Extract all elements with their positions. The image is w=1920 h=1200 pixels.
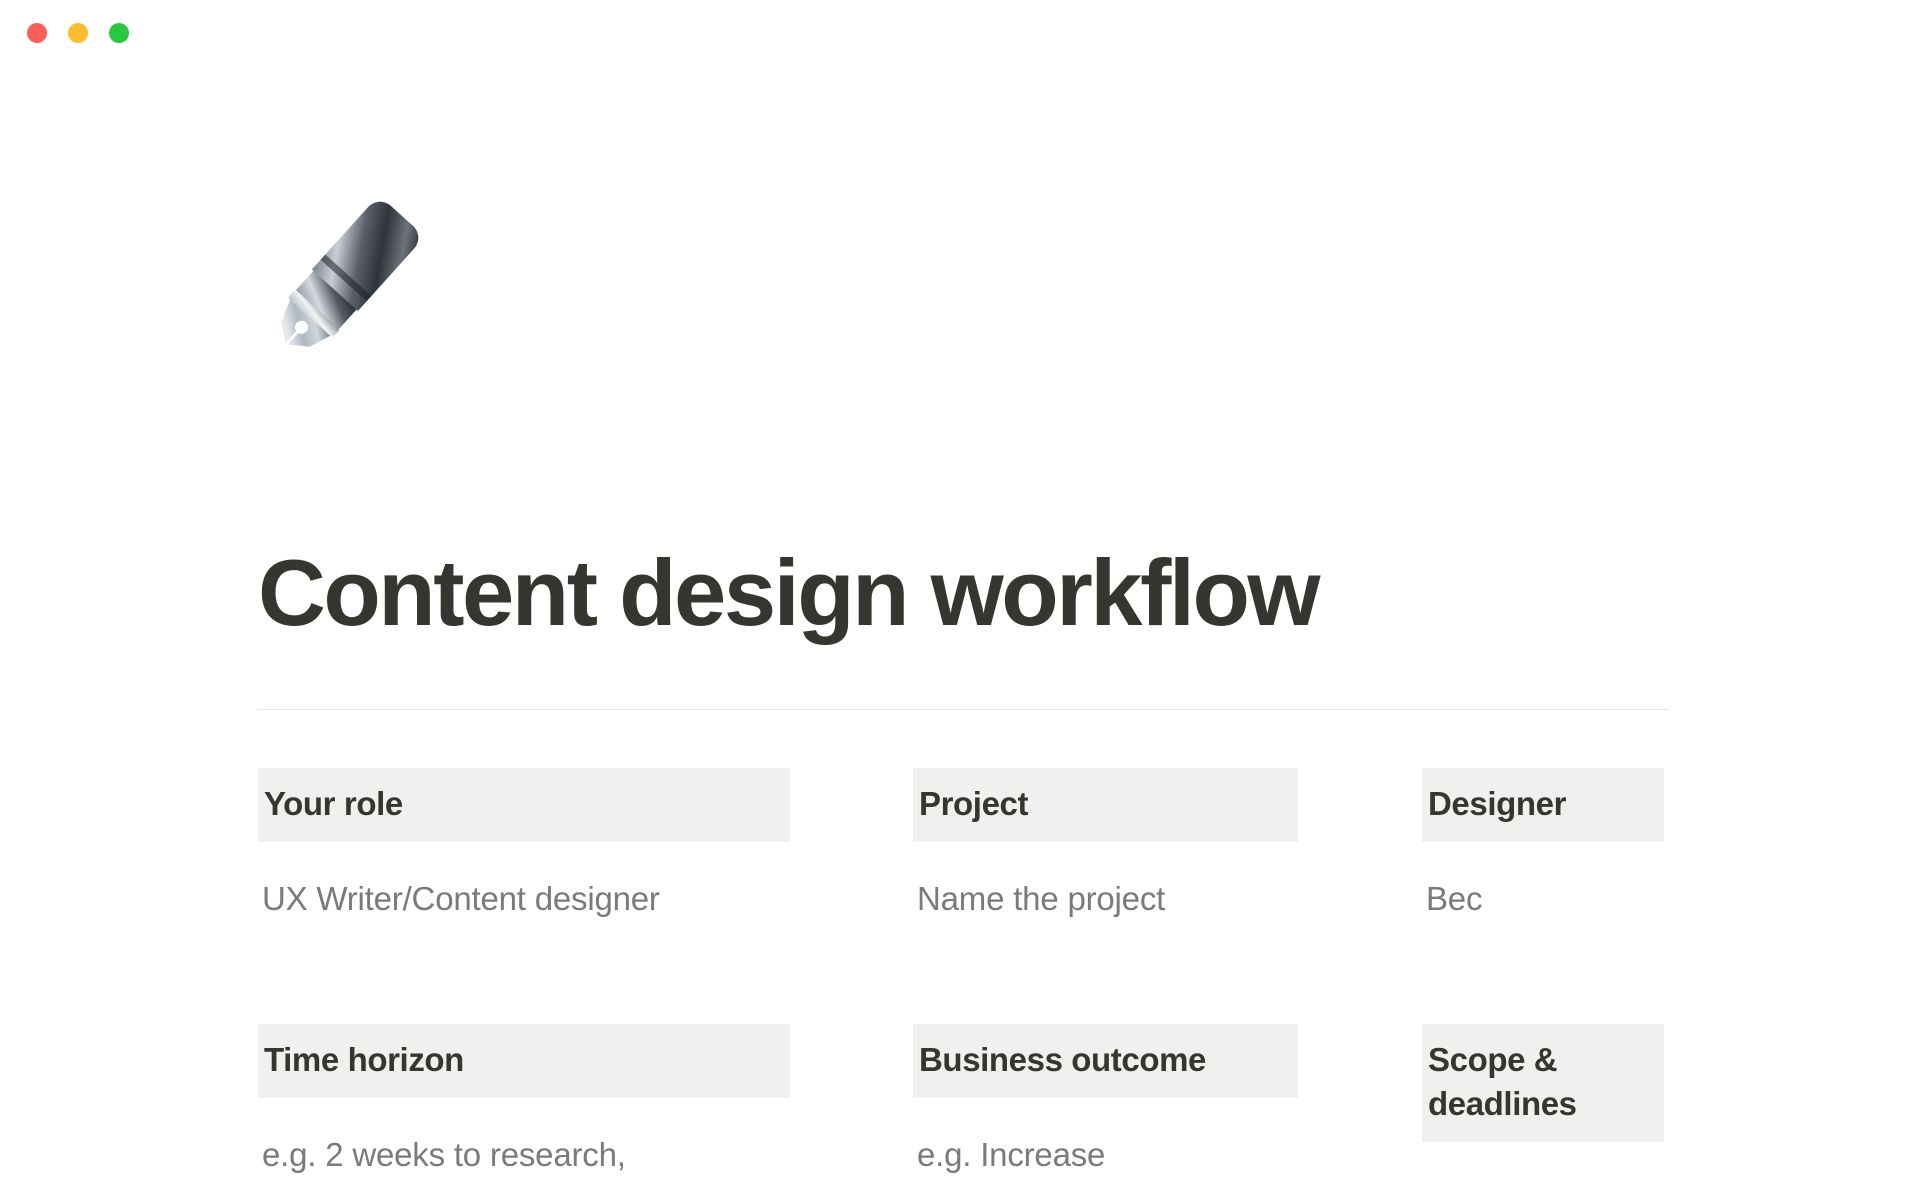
property-value[interactable]: Bec: [1422, 878, 1664, 921]
fountain-pen-icon[interactable]: [258, 192, 433, 367]
property-label: Scope & deadlines: [1422, 1024, 1664, 1142]
app-window: Content design workflow Your role UX Wri…: [0, 0, 1920, 1200]
property-value[interactable]: UX Writer/Content designer: [258, 878, 790, 921]
property-label: Your role: [258, 768, 790, 842]
page-title[interactable]: Content design workflow: [258, 540, 1318, 645]
property-cell-designer[interactable]: Designer Bec: [1422, 768, 1664, 921]
property-label: Time horizon: [258, 1024, 790, 1098]
property-cell-business-outcome[interactable]: Business outcome e.g. Increase: [913, 1024, 1298, 1177]
property-label: Project: [913, 768, 1298, 842]
property-cell-scope-deadlines[interactable]: Scope & deadlines: [1422, 1024, 1664, 1178]
traffic-light-group: [27, 23, 129, 43]
property-row: Time horizon e.g. 2 weeks to research, B…: [258, 1024, 1668, 1200]
property-value[interactable]: e.g. Increase: [913, 1134, 1298, 1177]
header-divider: [258, 709, 1668, 710]
property-grid: Your role UX Writer/Content designer Pro…: [258, 768, 1668, 1200]
minimize-window-button[interactable]: [68, 23, 88, 43]
property-label: Designer: [1422, 768, 1664, 842]
property-value[interactable]: Name the project: [913, 878, 1298, 921]
property-row: Your role UX Writer/Content designer Pro…: [258, 768, 1668, 1024]
maximize-window-button[interactable]: [109, 23, 129, 43]
close-window-button[interactable]: [27, 23, 47, 43]
window-titlebar: [0, 0, 1920, 72]
property-cell-your-role[interactable]: Your role UX Writer/Content designer: [258, 768, 790, 921]
property-label: Business outcome: [913, 1024, 1298, 1098]
property-cell-time-horizon[interactable]: Time horizon e.g. 2 weeks to research,: [258, 1024, 790, 1177]
property-cell-project[interactable]: Project Name the project: [913, 768, 1298, 921]
property-value[interactable]: e.g. 2 weeks to research,: [258, 1134, 790, 1177]
